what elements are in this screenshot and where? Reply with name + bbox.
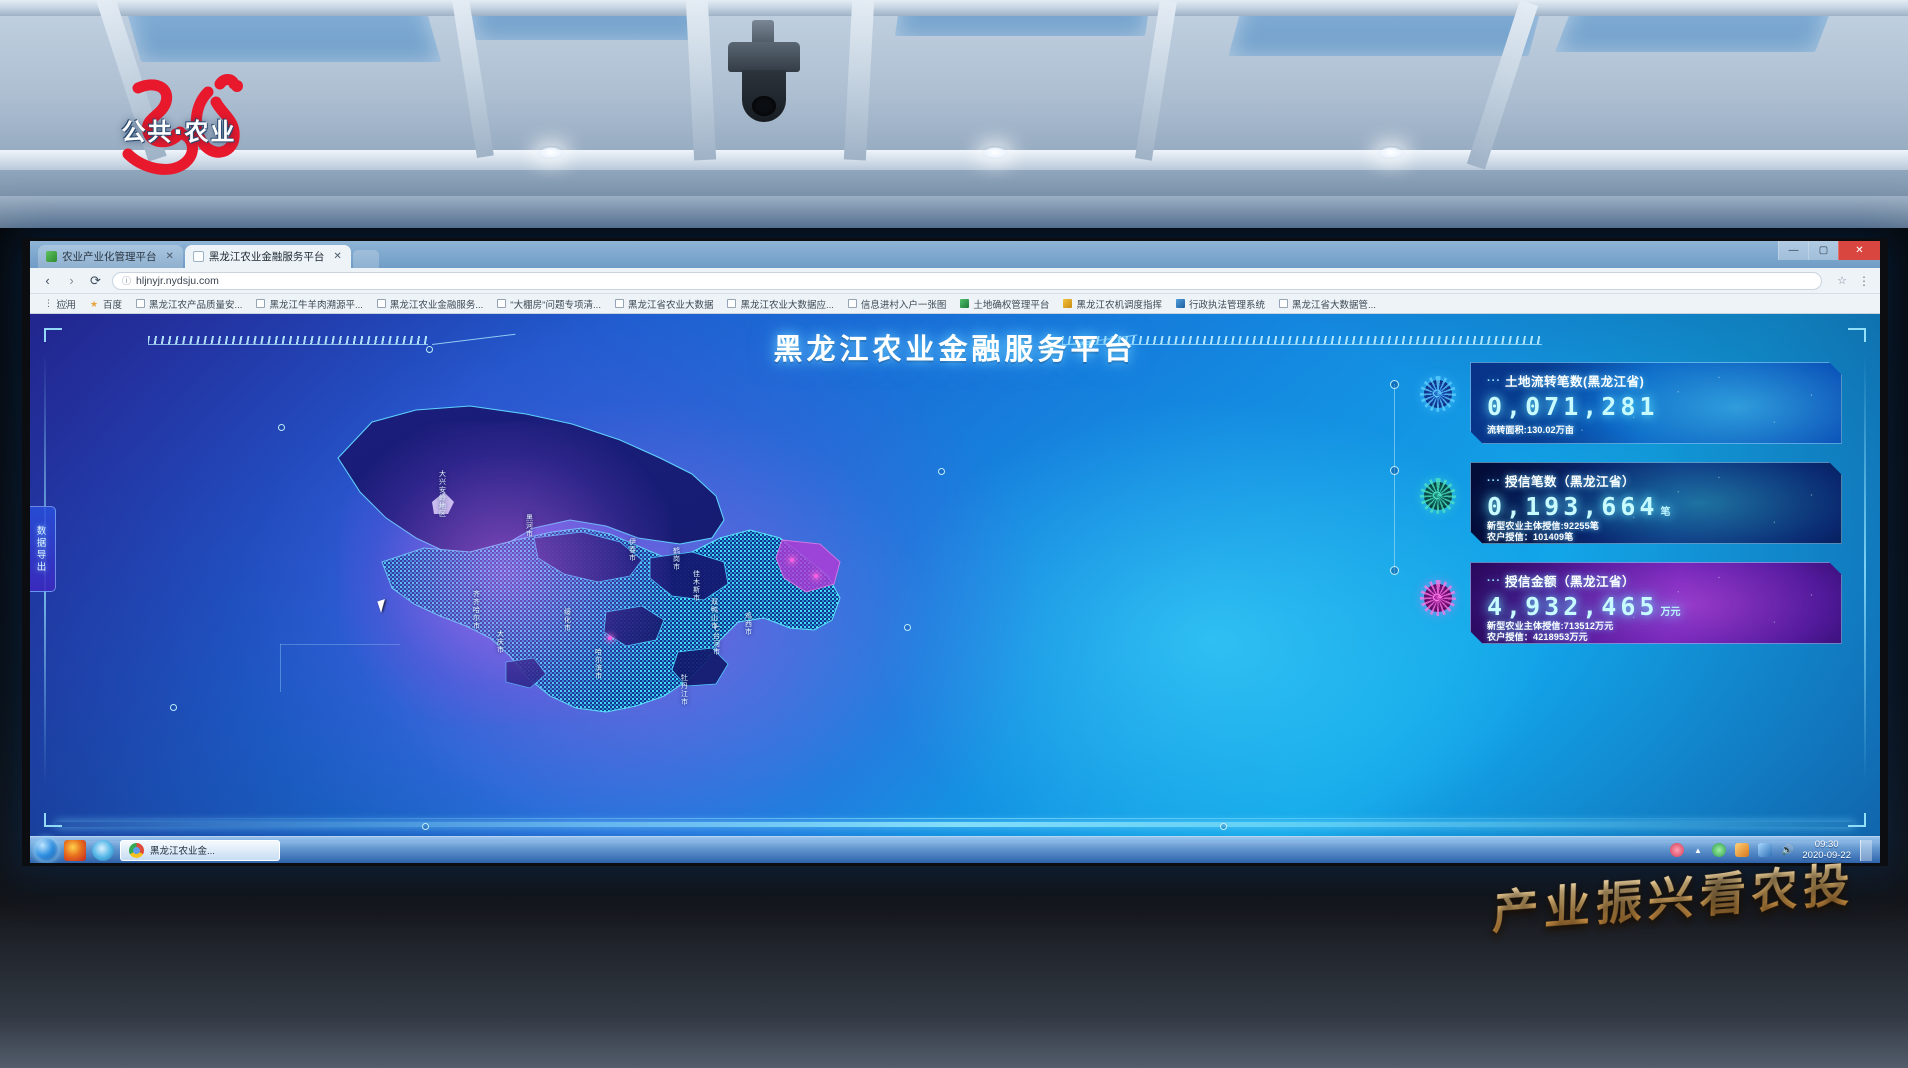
stat-card-subtitle: 新型农业主体授信:92255笔 bbox=[1487, 521, 1841, 532]
chrome-browser-window: 农业产业化管理平台 ✕ 黑龙江农业金融服务平台 ✕ — ▢ ✕ ‹ › ⟳ ⓘ … bbox=[30, 241, 1880, 863]
star-icon: ★ bbox=[90, 299, 99, 308]
map-region-label: 七台河市 bbox=[712, 624, 721, 656]
map-region-label: 哈尔滨市 bbox=[594, 648, 603, 680]
internet-explorer-icon[interactable] bbox=[92, 840, 114, 861]
bookmark-label: 黑龙江农机调度指挥 bbox=[1076, 297, 1162, 311]
green-app-icon bbox=[960, 299, 969, 308]
export-char: 出 bbox=[37, 562, 47, 573]
map-region-label: 牡丹江市 bbox=[680, 674, 689, 706]
tab-title: 农业产业化管理平台 bbox=[62, 249, 157, 264]
doc-icon bbox=[615, 299, 624, 308]
cards-connector-rail bbox=[1394, 384, 1395, 574]
tray-antivirus-icon[interactable] bbox=[1712, 843, 1726, 857]
taskbar-active-window[interactable]: 黑龙江农业金... bbox=[120, 840, 280, 861]
browser-tab-0[interactable]: 农业产业化管理平台 ✕ bbox=[38, 245, 183, 268]
frame-corner bbox=[1848, 328, 1866, 342]
tab-close-icon[interactable]: ✕ bbox=[166, 251, 174, 262]
tray-input-method-icon[interactable] bbox=[1735, 843, 1749, 857]
bookmark-item[interactable]: "大棚房"问题专项清... bbox=[490, 297, 608, 311]
doc-icon bbox=[727, 299, 736, 308]
export-char: 据 bbox=[37, 538, 47, 549]
channel-label: 公共·农业 bbox=[104, 112, 254, 147]
stat-card-title-row: ··· 授信金额（黑龙江省） bbox=[1487, 571, 1841, 590]
stat-cards-panel: ⟳ ⟳ ⟳ ··· 土地流转笔数(黑龙江省) 0,071,281 流转面积:13… bbox=[1470, 362, 1842, 662]
url-text: hljnyjr.nydsju.com bbox=[136, 275, 219, 287]
gear-icon-magenta: ⟳ bbox=[1424, 584, 1452, 612]
doc-icon bbox=[1279, 299, 1288, 308]
chrome-menu-icon[interactable]: ⋮ bbox=[1858, 277, 1870, 285]
ambient-node bbox=[278, 424, 285, 431]
bookmark-label: 百度 bbox=[103, 297, 122, 311]
browser-toolbar: ‹ › ⟳ ⓘ hljnyjr.nydsju.com ☆ ⋮ bbox=[30, 268, 1880, 294]
doc-icon bbox=[848, 299, 857, 308]
bookmark-label: 行政执法管理系统 bbox=[1189, 297, 1265, 311]
ceiling-downlight bbox=[538, 146, 564, 159]
stat-card-title-row: ··· 土地流转笔数(黑龙江省) bbox=[1487, 371, 1841, 390]
map-region-label: 鹤岗市 bbox=[672, 547, 681, 571]
map-hotspot-dot bbox=[814, 574, 818, 578]
doc-icon bbox=[136, 299, 145, 308]
conference-room-ceiling bbox=[0, 0, 1908, 245]
bookmark-label: "大棚房"问题专项清... bbox=[510, 297, 601, 311]
stat-card-subtitle: 农户授信：101409笔 bbox=[1487, 532, 1841, 543]
bookmark-label: 应用 bbox=[57, 297, 76, 311]
card-dots-decor: ··· bbox=[1487, 577, 1501, 585]
stat-card-title: 授信笔数（黑龙江省） bbox=[1505, 471, 1635, 490]
bookmark-item[interactable]: 土地确权管理平台 bbox=[953, 297, 1056, 311]
stat-card-title: 土地流转笔数(黑龙江省) bbox=[1505, 371, 1644, 390]
site-info-icon[interactable]: ⓘ bbox=[122, 274, 130, 287]
stat-card-value-row: 4,932,465 万元 bbox=[1487, 592, 1841, 621]
stat-card-value-row: 0,071,281 bbox=[1487, 392, 1841, 421]
bookmark-item[interactable]: 黑龙江省大数据管... bbox=[1272, 297, 1383, 311]
bookmark-label: 黑龙江省大数据管... bbox=[1292, 297, 1376, 311]
blue-app-icon bbox=[1176, 299, 1185, 308]
stat-card-value: 0,071,281 bbox=[1487, 392, 1658, 421]
new-tab-button[interactable] bbox=[353, 250, 379, 268]
bookmark-label: 黑龙江省农业大数据 bbox=[628, 297, 714, 311]
reload-icon[interactable]: ⟳ bbox=[88, 273, 103, 289]
address-bar[interactable]: ⓘ hljnyjr.nydsju.com bbox=[112, 272, 1822, 290]
ambient-node bbox=[904, 624, 911, 631]
minimize-button[interactable]: — bbox=[1778, 241, 1808, 260]
window-controls: — ▢ ✕ bbox=[1778, 241, 1880, 261]
stat-card-credit-count[interactable]: ··· 授信笔数（黑龙江省） 0,193,664 笔 新型农业主体授信:9225… bbox=[1470, 462, 1842, 544]
browser-tab-1[interactable]: 黑龙江农业金融服务平台 ✕ bbox=[185, 245, 351, 268]
map-region-label: 绥化市 bbox=[563, 608, 572, 632]
data-export-button[interactable]: 数 据 导 出 bbox=[30, 506, 56, 592]
cards-rail-node bbox=[1390, 466, 1399, 475]
bookmark-label: 信息进村入户一张图 bbox=[861, 297, 947, 311]
yellow-app-icon bbox=[1063, 299, 1072, 308]
map-region-label: 大兴安岭地区 bbox=[438, 470, 447, 518]
bookmark-item[interactable]: 黑龙江农机调度指挥 bbox=[1056, 297, 1169, 311]
stat-card-credit-amount[interactable]: ··· 授信金额（黑龙江省） 4,932,465 万元 新型农业主体授信:713… bbox=[1470, 562, 1842, 644]
back-icon[interactable]: ‹ bbox=[40, 273, 55, 288]
map-region-label: 大庆市 bbox=[496, 630, 505, 654]
stat-card-unit: 笔 bbox=[1660, 503, 1670, 518]
export-char: 数 bbox=[37, 526, 47, 537]
agriculture-finance-dashboard: 黑龙江农业金融服务平台 数 据 导 出 bbox=[30, 314, 1880, 841]
bookmark-label: 黑龙江农业金融服务... bbox=[390, 297, 483, 311]
maximize-button[interactable]: ▢ bbox=[1808, 241, 1838, 260]
show-desktop-button[interactable] bbox=[1860, 840, 1872, 861]
bookmark-item[interactable]: 信息进村入户一张图 bbox=[841, 297, 954, 311]
close-window-button[interactable]: ✕ bbox=[1838, 241, 1880, 260]
taskbar-window-title: 黑龙江农业金... bbox=[150, 843, 215, 857]
bookmark-label: 黑龙江农产品质量安... bbox=[149, 297, 242, 311]
map-hotspot-dot bbox=[608, 636, 612, 640]
cards-rail-node bbox=[1390, 566, 1399, 575]
frame-node bbox=[422, 823, 429, 830]
card-dots-decor: ··· bbox=[1487, 477, 1501, 485]
bookmark-star-icon[interactable]: ☆ bbox=[1837, 274, 1847, 287]
bookmark-item[interactable]: 黑龙江农产品质量安... bbox=[129, 297, 249, 311]
bookmark-item[interactable]: ⋮⋮⋮应用 bbox=[37, 297, 83, 311]
map-region-label: 黑河市 bbox=[525, 514, 534, 538]
stat-card-title: 授信金额（黑龙江省） bbox=[1505, 571, 1635, 590]
windows-taskbar: 黑龙江农业金... ▲ 🔊 09:30 2020-09-22 bbox=[30, 836, 1880, 863]
ceiling-projector bbox=[728, 42, 800, 72]
bookmark-item[interactable]: 黑龙江省农业大数据 bbox=[608, 297, 721, 311]
gear-icon-blue: ⟳ bbox=[1424, 380, 1452, 408]
cards-rail-node bbox=[1390, 380, 1399, 389]
bookmark-item[interactable]: 黑龙江农业金融服务... bbox=[370, 297, 490, 311]
forward-icon[interactable]: › bbox=[64, 273, 79, 288]
tray-notification-icon[interactable] bbox=[1670, 843, 1684, 857]
stat-card-value-row: 0,193,664 笔 bbox=[1487, 492, 1841, 521]
map-region-label: 齐齐哈尔市 bbox=[472, 590, 481, 630]
apps-grid-icon: ⋮⋮⋮ bbox=[44, 299, 53, 308]
stat-card-value: 0,193,664 bbox=[1487, 492, 1658, 521]
doc-icon bbox=[497, 299, 506, 308]
map-region-label: 伊春市 bbox=[628, 538, 637, 562]
stat-card-subtitle: 流转面积:130.02万亩 bbox=[1487, 425, 1841, 436]
stat-card-title-row: ··· 授信笔数（黑龙江省） bbox=[1487, 471, 1841, 490]
browser-tabstrip: 农业产业化管理平台 ✕ 黑龙江农业金融服务平台 ✕ — ▢ ✕ bbox=[30, 241, 1880, 268]
tab-close-icon[interactable]: ✕ bbox=[333, 251, 341, 262]
projector-lens bbox=[742, 70, 786, 122]
stat-card-subtitle: 新型农业主体授信:713512万元 bbox=[1487, 621, 1841, 632]
bookmark-item[interactable]: 黑龙江农业大数据应... bbox=[720, 297, 840, 311]
stat-card-unit: 万元 bbox=[1660, 603, 1680, 618]
start-button-icon[interactable] bbox=[34, 838, 58, 862]
tab-title: 黑龙江农业金融服务平台 bbox=[209, 249, 325, 264]
ceiling-downlight bbox=[1378, 146, 1404, 159]
map-hotspot-dot bbox=[790, 558, 794, 562]
frame-node bbox=[1220, 823, 1227, 830]
bookmark-item[interactable]: 行政执法管理系统 bbox=[1169, 297, 1272, 311]
stat-card-land-transfer-count[interactable]: ··· 土地流转笔数(黑龙江省) 0,071,281 流转面积:130.02万亩 bbox=[1470, 362, 1842, 444]
ceiling-downlight bbox=[982, 146, 1008, 159]
export-char: 导 bbox=[37, 550, 47, 561]
doc-icon bbox=[377, 299, 386, 308]
bookmarks-bar: ⋮⋮⋮应用 ★百度 黑龙江农产品质量安... 黑龙江牛羊肉溯源平... 黑龙江农… bbox=[30, 294, 1880, 314]
bookmark-item[interactable]: ★百度 bbox=[83, 297, 129, 311]
bookmark-item[interactable]: 黑龙江牛羊肉溯源平... bbox=[249, 297, 369, 311]
frame-corner bbox=[44, 328, 62, 342]
heilongjiang-province-map[interactable]: 大兴安岭地区 黑河市 伊春市 鹤岗市 齐齐哈尔市 佳木斯市 双鸭山市 绥化市 大… bbox=[320, 362, 880, 782]
tab-favicon-doc-icon bbox=[193, 251, 204, 262]
ambient-node bbox=[938, 468, 945, 475]
map-region-label: 鸡西市 bbox=[744, 612, 753, 636]
bookmark-label: 土地确权管理平台 bbox=[973, 297, 1049, 311]
map-region-label: 佳木斯市 bbox=[692, 570, 701, 602]
chrome-icon bbox=[129, 843, 144, 858]
gear-icon-green: ⟳ bbox=[1424, 482, 1452, 510]
bookmark-label: 黑龙江牛羊肉溯源平... bbox=[269, 297, 362, 311]
stat-card-subtitle: 农户授信：4218953万元 bbox=[1487, 632, 1841, 643]
doc-icon bbox=[256, 299, 265, 308]
bookmark-label: 黑龙江农业大数据应... bbox=[740, 297, 833, 311]
stat-card-value: 4,932,465 bbox=[1487, 592, 1658, 621]
ambient-node bbox=[170, 704, 177, 711]
screenshot-stage: 农业产业化管理平台 ✕ 黑龙江农业金融服务平台 ✕ — ▢ ✕ ‹ › ⟳ ⓘ … bbox=[0, 0, 1908, 1068]
media-player-icon[interactable] bbox=[64, 840, 86, 861]
tray-show-hidden-icon[interactable]: ▲ bbox=[1693, 846, 1703, 855]
card-dots-decor: ··· bbox=[1487, 377, 1501, 385]
tab-favicon-green-app-icon bbox=[46, 251, 57, 262]
